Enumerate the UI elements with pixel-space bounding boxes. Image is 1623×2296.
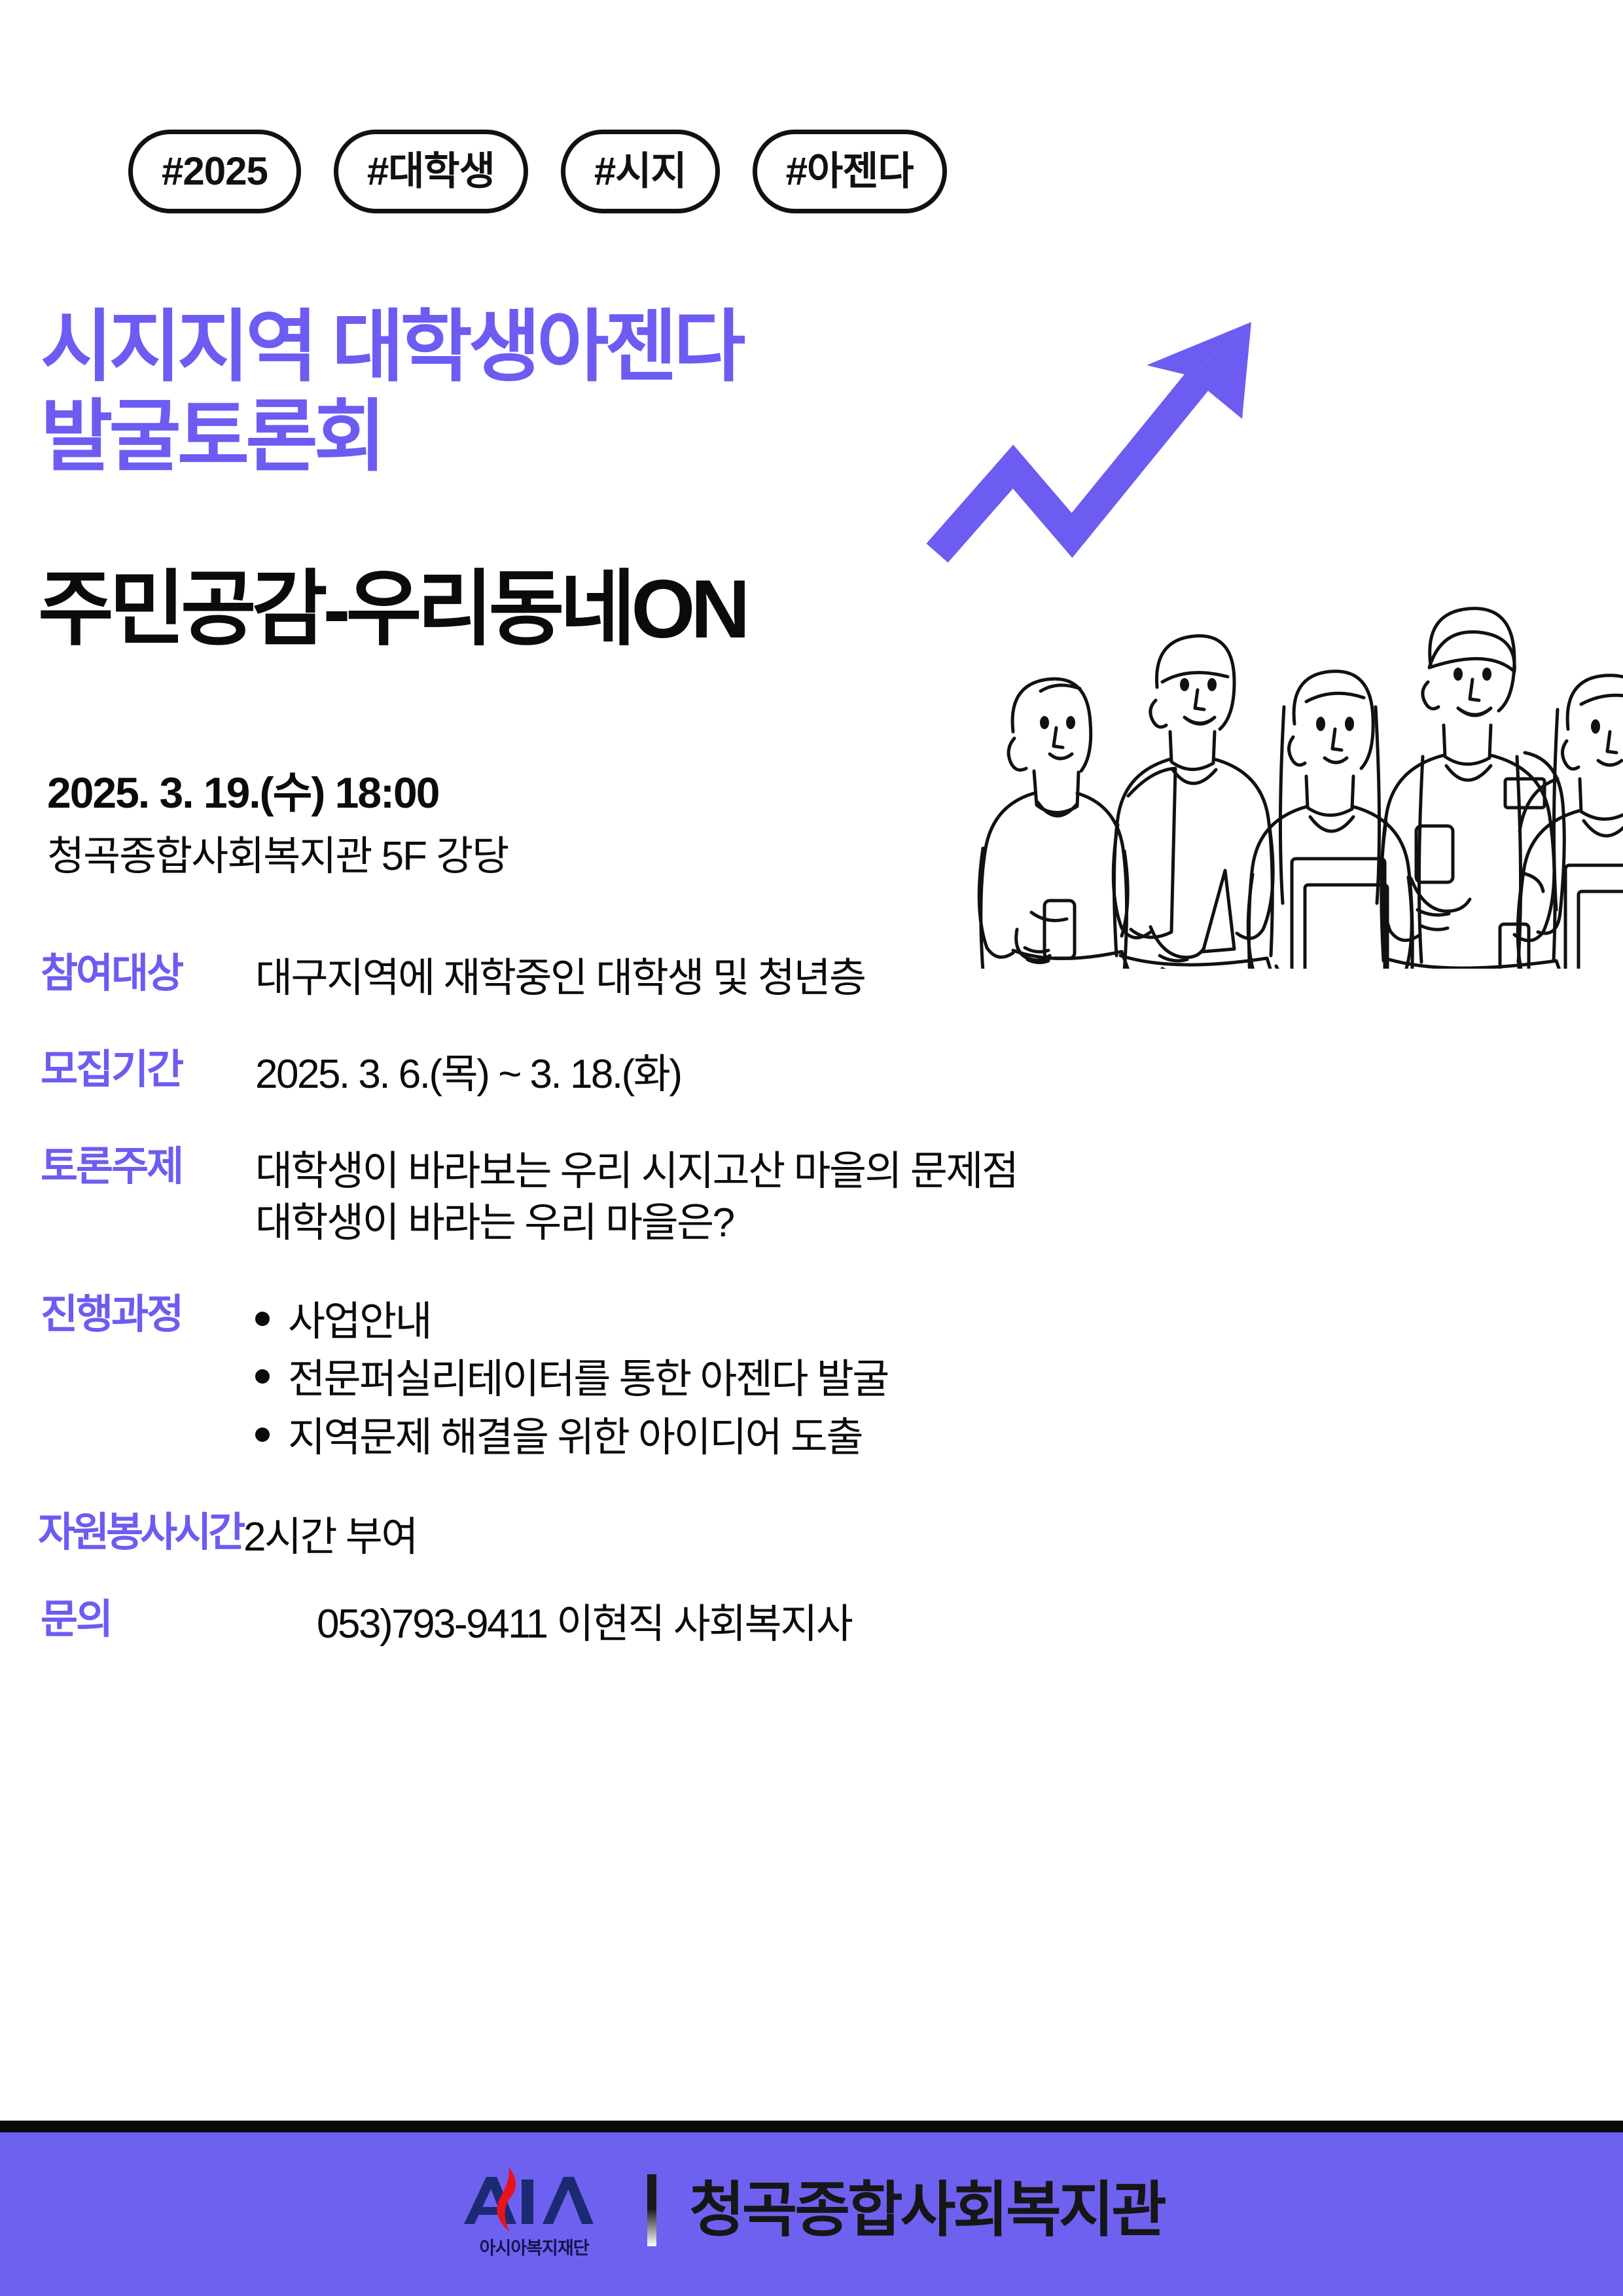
footer-divider-rule	[0, 2121, 1623, 2132]
hashtag-label: #대학생	[367, 152, 495, 191]
info-row-discussion-topic: 토론주제 대학생이 바라보는 우리 시지고산 마을의 문제점 대학생이 바라는 …	[0, 1145, 1623, 1249]
asia-wordmark-icon	[459, 2164, 609, 2234]
list-item-label: 사업안내	[288, 1293, 431, 1351]
info-label: 자원봉사시간	[0, 1511, 243, 1555]
info-label: 진행과정	[0, 1293, 255, 1337]
asia-foundation-logo: 아시아복지재단	[459, 2164, 609, 2257]
hashtag-pill-0[interactable]: #2025	[128, 130, 301, 213]
hashtag-label: #시지	[594, 152, 687, 191]
footer-bar: 아시아복지재단 청곡종합사회복지관	[0, 2132, 1623, 2296]
event-poster: #2025 #대학생 #시지 #아젠다 시지지역 대학생아젠다 발굴토론회 주민…	[0, 0, 1623, 2296]
hashtag-label: #아젠다	[786, 152, 914, 191]
info-value-line: 대구지역에 재학중인 대학생 및 청년층	[255, 952, 1623, 1004]
info-row-contact: 문의 053)793-9411 이현직 사회복지사	[0, 1598, 1623, 1650]
info-value: 2시간 부여	[243, 1511, 1623, 1563]
info-row-volunteer-hours: 자원봉사시간 2시간 부여	[0, 1511, 1623, 1563]
page-title: 시지지역 대학생아젠다 발굴토론회	[41, 302, 1114, 482]
hashtag-pill-2[interactable]: #시지	[561, 130, 720, 213]
bullet-dot-icon	[255, 1312, 270, 1326]
info-value-line: 대학생이 바라보는 우리 시지고산 마을의 문제점	[255, 1145, 1623, 1197]
bullet-dot-icon	[255, 1369, 270, 1384]
hashtag-row: #2025 #대학생 #시지 #아젠다	[128, 130, 947, 213]
organization-name: 청곡종합사회복지관	[689, 2180, 1164, 2240]
info-value-line: 대학생이 바라는 우리 마을은?	[255, 1197, 1623, 1249]
hashtag-label: #2025	[162, 152, 268, 191]
bullet-dot-icon	[255, 1427, 270, 1442]
page-subtitle: 주민공감-우리동네ON	[38, 568, 745, 651]
info-label: 모집기간	[0, 1049, 255, 1092]
info-value: 2025. 3. 6.(목) ~ 3. 18.(화)	[255, 1049, 1623, 1100]
asia-foundation-subtext: 아시아복지재단	[480, 2240, 589, 2257]
info-label: 참여대상	[0, 952, 255, 996]
info-value-line: 2025. 3. 6.(목) ~ 3. 18.(화)	[255, 1049, 1623, 1100]
hashtag-pill-3[interactable]: #아젠다	[753, 130, 947, 213]
list-item: 전문퍼실리테이터를 통한 아젠다 발굴	[255, 1351, 1623, 1408]
students-group-illustration	[969, 563, 1623, 969]
info-value-line: 053)793-9411 이현직 사회복지사	[317, 1598, 1623, 1650]
info-label: 토론주제	[0, 1145, 255, 1189]
info-row-recruitment-period: 모집기간 2025. 3. 6.(목) ~ 3. 18.(화)	[0, 1049, 1623, 1100]
hashtag-pill-1[interactable]: #대학생	[334, 130, 528, 213]
info-value: 053)793-9411 이현직 사회복지사	[255, 1598, 1623, 1650]
info-row-process: 진행과정 사업안내 전문퍼실리테이터를 통한 아젠다 발굴 지역문제 해결을 위…	[0, 1293, 1623, 1466]
list-item-label: 지역문제 해결을 위한 아이디어 도출	[288, 1409, 862, 1467]
info-value: 사업안내 전문퍼실리테이터를 통한 아젠다 발굴 지역문제 해결을 위한 아이디…	[255, 1293, 1623, 1466]
event-venue: 청곡종합사회복지관 5F 강당	[47, 836, 508, 877]
headline-line-1: 시지지역 대학생아젠다	[41, 302, 1114, 392]
list-item-label: 전문퍼실리테이터를 통한 아젠다 발굴	[288, 1351, 888, 1408]
process-bullet-list: 사업안내 전문퍼실리테이터를 통한 아젠다 발굴 지역문제 해결을 위한 아이디…	[255, 1293, 1623, 1466]
info-value-line: 2시간 부여	[243, 1511, 1623, 1563]
info-table: 참여대상 대구지역에 재학중인 대학생 및 청년층 모집기간 2025. 3. …	[0, 952, 1623, 1695]
list-item: 사업안내	[255, 1293, 1623, 1351]
info-value: 대학생이 바라보는 우리 시지고산 마을의 문제점 대학생이 바라는 우리 마을…	[255, 1145, 1623, 1249]
info-row-participants: 참여대상 대구지역에 재학중인 대학생 및 청년층	[0, 952, 1623, 1004]
footer-vertical-divider-icon	[647, 2174, 656, 2246]
list-item: 지역문제 해결을 위한 아이디어 도출	[255, 1409, 1623, 1467]
event-datetime: 2025. 3. 19.(수) 18:00	[47, 771, 438, 814]
headline-line-2: 발굴토론회	[41, 392, 1114, 482]
info-label: 문의	[0, 1598, 255, 1642]
info-value: 대구지역에 재학중인 대학생 및 청년층	[255, 952, 1623, 1004]
